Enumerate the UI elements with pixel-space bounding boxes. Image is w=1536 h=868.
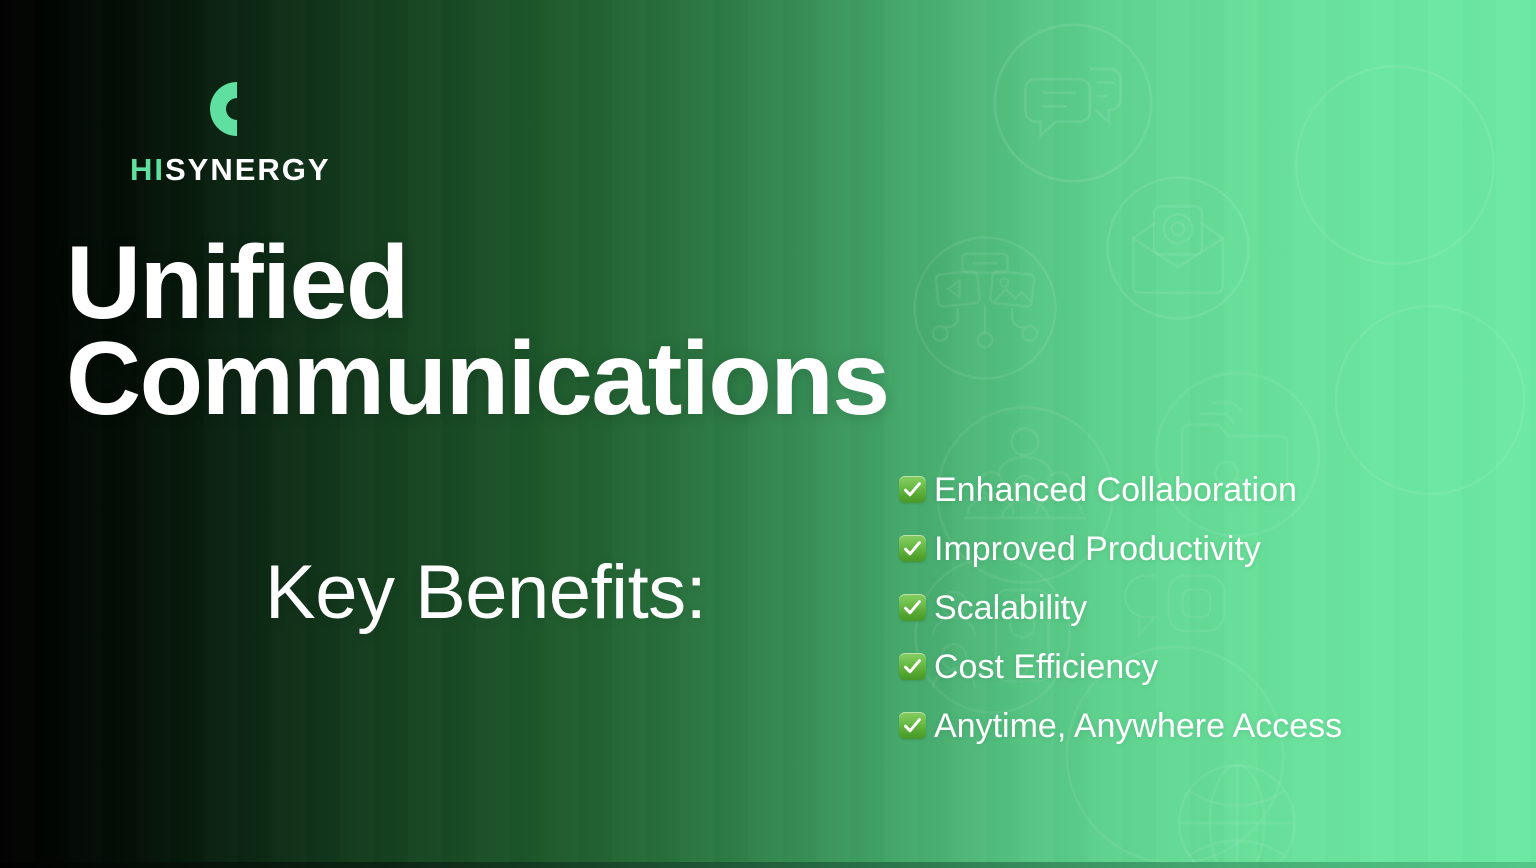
check-mark-button-icon	[899, 535, 926, 562]
globe-icon	[1152, 738, 1322, 868]
list-item: Improved Productivity	[899, 519, 1342, 578]
decorative-circle-2	[1330, 300, 1530, 500]
benefits-list: Enhanced Collaboration Improved Producti…	[899, 460, 1342, 755]
chat-bubbles-icon	[988, 18, 1158, 188]
list-item: Cost Efficiency	[899, 637, 1342, 696]
brand-wordmark: HISYNERGY	[130, 154, 331, 185]
check-mark-button-icon	[899, 594, 926, 621]
page-title-line2: Communications	[66, 332, 889, 428]
list-item: Enhanced Collaboration	[899, 460, 1342, 519]
hisynergy-link-mark-icon	[192, 78, 302, 140]
bottom-edge-strip	[0, 862, 1536, 868]
benefit-label: Enhanced Collaboration	[934, 473, 1297, 507]
page-title: Unified Communications	[66, 236, 889, 427]
list-item: Scalability	[899, 578, 1342, 637]
check-mark-button-icon	[899, 476, 926, 503]
benefit-label: Anytime, Anywhere Access	[934, 709, 1342, 743]
key-benefits-heading: Key Benefits:	[265, 555, 706, 631]
list-item: Anytime, Anywhere Access	[899, 696, 1342, 755]
media-share-icon	[905, 228, 1065, 388]
benefit-label: Cost Efficiency	[934, 650, 1158, 684]
brand-name-part1: HI	[130, 152, 165, 187]
benefit-label: Scalability	[934, 591, 1087, 625]
presentation-slide: HISYNERGY Unified Communications Key Ben…	[0, 0, 1536, 868]
check-mark-button-icon	[899, 653, 926, 680]
decorative-circle-1	[1290, 60, 1500, 270]
benefit-label: Improved Productivity	[934, 532, 1261, 566]
brand-name-part2: SYNERGY	[165, 152, 331, 187]
envelope-mail-icon	[1098, 168, 1258, 328]
check-mark-button-icon	[899, 712, 926, 739]
brand-logo[interactable]: HISYNERGY	[130, 78, 331, 185]
